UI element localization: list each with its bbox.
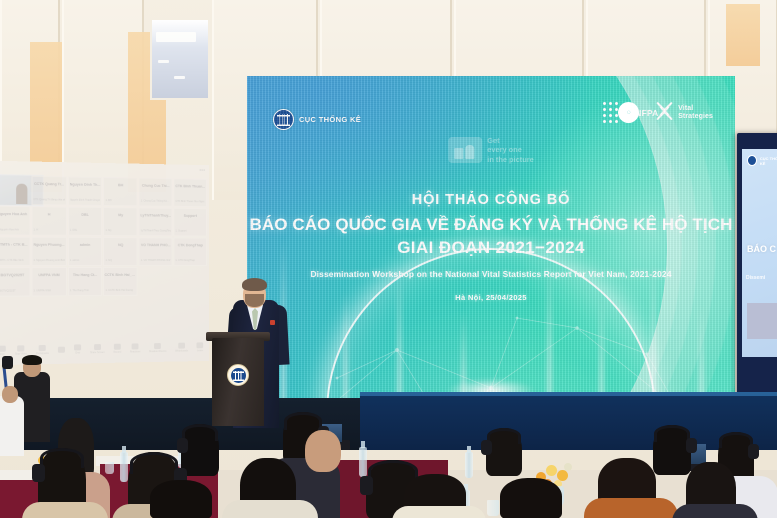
side-monitor-subtitle: Dissemi — [746, 275, 765, 281]
headset-earcup — [748, 444, 759, 459]
headset-earcup — [177, 438, 188, 453]
ceiling-light — [174, 76, 185, 79]
side-monitor-slide: CỤC THỐNG KÊ BÁO C Dissemi — [742, 149, 777, 357]
unfpa-mark-glyph: ◌ — [627, 109, 631, 116]
headset-earcup — [686, 438, 697, 453]
water-bottle — [120, 452, 128, 482]
speaker-beard — [245, 294, 264, 307]
side-monitor-logo: CỤC THỐNG KÊ — [747, 155, 777, 166]
ceiling-opening — [150, 18, 210, 100]
interpretation-headset-icon — [284, 412, 322, 430]
drinking-glass — [105, 462, 114, 474]
ceiling-light — [158, 60, 169, 63]
interpretation-headset-icon — [654, 425, 690, 442]
audience-shoulders — [672, 504, 758, 518]
headset-earcup — [360, 476, 373, 495]
interpretation-headset-icon — [40, 448, 84, 468]
gso-seal-icon — [231, 368, 246, 383]
gso-seal-icon — [747, 155, 757, 166]
side-monitor-title: BÁO C — [747, 244, 776, 254]
stage-edge-trim — [360, 392, 777, 396]
audience-shoulders — [392, 506, 486, 518]
audience-member — [305, 430, 341, 472]
interpretation-headset-icon — [182, 424, 218, 441]
audience-shoulders — [584, 498, 678, 518]
interpretation-headset-icon — [130, 452, 178, 474]
stage-skirt-right — [360, 392, 777, 450]
camera-operator-hair — [22, 355, 42, 365]
standing-attendee-head — [2, 386, 18, 403]
audience-member — [500, 478, 562, 518]
interpretation-headset-icon — [368, 460, 418, 482]
podium-seal — [227, 364, 249, 386]
interpretation-headset-icon — [487, 428, 521, 444]
standing-attendee-body — [0, 396, 24, 456]
podium — [212, 338, 264, 426]
headset-earcup — [32, 464, 45, 482]
drinking-glass — [487, 500, 499, 516]
headset-earcup — [481, 440, 492, 455]
left-projection-screen: ●●● CCTK Quang Tr...CTK Quang Tri đang c… — [0, 161, 209, 366]
audience-shoulders — [222, 500, 318, 518]
side-monitor-logo-label: CỤC THỐNG KÊ — [760, 156, 777, 166]
scene-root: ●●● CCTK Quang Tr...CTK Quang Tri đang c… — [0, 0, 777, 518]
projection-washout — [0, 161, 209, 366]
audience-shoulders — [22, 502, 108, 518]
speaker-hair — [242, 278, 267, 291]
water-bottle — [465, 452, 473, 478]
lapel-pin-icon — [270, 320, 275, 325]
audience-member — [150, 480, 212, 518]
ceiling-light — [156, 32, 196, 42]
side-monitor-footer — [747, 303, 777, 339]
water-bottle — [359, 447, 367, 477]
led-pixel-texture — [247, 76, 735, 428]
side-monitor: CỤC THỐNG KÊ BÁO C Dissemi — [737, 133, 777, 411]
main-led-screen: CỤC THỐNG KÊ ◌ UNFPA — [247, 76, 735, 428]
wall-inset — [726, 4, 760, 66]
camera-head — [2, 356, 13, 369]
